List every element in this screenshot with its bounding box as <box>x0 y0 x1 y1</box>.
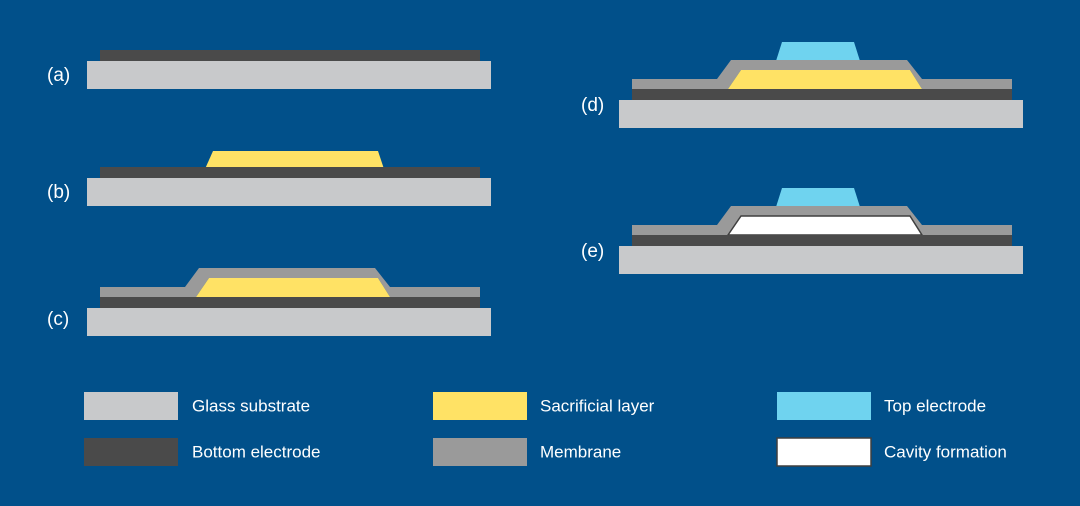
panel-c-label: (c) <box>47 309 69 330</box>
panel-e-bottom-electrode <box>632 235 1012 246</box>
panel-c-sacrificial-layer <box>196 278 390 297</box>
panel-d-top-electrode <box>776 42 860 61</box>
legend-label-glass-substrate: Glass substrate <box>192 396 310 415</box>
legend-swatch-membrane <box>433 438 527 466</box>
panel-a-bottom-electrode <box>100 50 480 61</box>
panel-d-label: (d) <box>581 95 604 116</box>
panel-d-bottom-electrode <box>632 89 1012 100</box>
legend-label-top-electrode: Top electrode <box>884 396 986 415</box>
panel-b-bottom-electrode <box>100 167 480 178</box>
panel-d-sacrificial-layer <box>728 70 922 89</box>
panel-d-glass-substrate <box>619 100 1023 128</box>
panel-a-label: (a) <box>47 65 70 86</box>
legend-label-cavity-formation: Cavity formation <box>884 442 1007 461</box>
panel-c-bottom-electrode <box>100 297 480 308</box>
legend-label-sacrificial-layer: Sacrificial layer <box>540 396 655 415</box>
panel-b-label: (b) <box>47 182 70 203</box>
legend-swatch-cavity-formation <box>777 438 871 466</box>
legend-swatch-bottom-electrode <box>84 438 178 466</box>
panel-e-cavity <box>728 216 922 235</box>
panel-b-glass-substrate <box>87 178 491 206</box>
legend-swatch-sacrificial-layer <box>433 392 527 420</box>
legend-swatch-top-electrode <box>777 392 871 420</box>
legend-label-membrane: Membrane <box>540 442 621 461</box>
panel-a-glass-substrate <box>87 61 491 89</box>
panel-e-label: (e) <box>581 241 604 262</box>
legend-label-bottom-electrode: Bottom electrode <box>192 442 321 461</box>
panel-e-glass-substrate <box>619 246 1023 274</box>
panel-a: (a) <box>47 50 491 89</box>
legend-swatch-glass-substrate <box>84 392 178 420</box>
panel-c-glass-substrate <box>87 308 491 336</box>
panel-e-top-electrode <box>776 188 860 207</box>
process-flow-figure: (a) (b) (c) (d) (e) <box>0 0 1080 506</box>
